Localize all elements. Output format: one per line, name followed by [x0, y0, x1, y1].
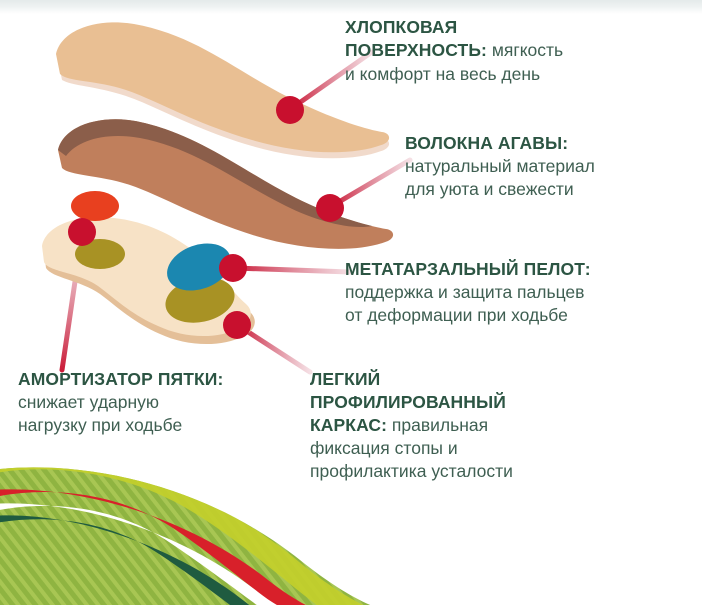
- leader-line-metatarsal: [235, 268, 350, 272]
- callout-agave-title: ВОЛОКНА АГАВЫ:: [405, 132, 695, 155]
- marker-dot-metatarsal[interactable]: [219, 254, 247, 282]
- callout-agave-fibers: ВОЛОКНА АГАВЫ: натуральный материал для …: [405, 132, 695, 200]
- callout-heel-title: АМОРТИЗАТОР ПЯТКИ:: [18, 368, 308, 391]
- callout-metatarsal-body-line-2: от деформации при ходьбе: [345, 304, 697, 327]
- callout-metatarsal-pad: МЕТАТАРЗАЛЬНЫЙ ПЕЛОТ: поддержка и защита…: [345, 258, 697, 326]
- callout-frame-body-line-1: фиксация стопы и: [310, 437, 610, 460]
- callout-heel-shock-absorber: АМОРТИЗАТОР ПЯТКИ: снижает ударную нагру…: [18, 368, 308, 436]
- callout-frame-title-line-1: ЛЕГКИЙ: [310, 368, 610, 391]
- callout-cotton-surface: ХЛОПКОВАЯ ПОВЕРХНОСТЬ: мягкость и комфор…: [345, 16, 695, 85]
- callout-frame-title-line-3: КАРКАС:: [310, 415, 387, 435]
- callout-cotton-title-line-2: ПОВЕРХНОСТЬ:: [345, 40, 487, 60]
- callout-cotton-title-line-1: ХЛОПКОВАЯ: [345, 16, 695, 39]
- marker-dot-cotton[interactable]: [276, 96, 304, 124]
- heel-shock-pad: [71, 191, 119, 221]
- callout-frame-body-line-2: профилактика усталости: [310, 460, 610, 483]
- callout-light-profiled-frame: ЛЕГКИЙ ПРОФИЛИРОВАННЫЙ КАРКАС: правильна…: [310, 368, 610, 483]
- leader-line-frame: [239, 326, 310, 372]
- marker-dot-heel[interactable]: [68, 218, 96, 246]
- marker-dot-frame[interactable]: [223, 311, 251, 339]
- marker-dot-agave[interactable]: [316, 194, 344, 222]
- callout-frame-tail-word: правильная: [392, 415, 488, 435]
- callout-heel-body-line-2: нагрузку при ходьбе: [18, 414, 308, 437]
- callout-metatarsal-body-line-1: поддержка и защита пальцев: [345, 281, 697, 304]
- callout-agave-body-line-1: натуральный материал: [405, 155, 695, 178]
- callout-heel-body-line-1: снижает ударную: [18, 391, 308, 414]
- leader-line-agave: [332, 160, 410, 206]
- infographic-canvas: ХЛОПКОВАЯ ПОВЕРХНОСТЬ: мягкость и комфор…: [0, 0, 702, 605]
- callout-cotton-body-line-1: и комфорт на весь день: [345, 63, 695, 86]
- callout-frame-title-line-2: ПРОФИЛИРОВАННЫЙ: [310, 391, 610, 414]
- callout-agave-body-line-2: для уюта и свежести: [405, 178, 695, 201]
- callout-metatarsal-title: МЕТАТАРЗАЛЬНЫЙ ПЕЛОТ:: [345, 258, 697, 281]
- callout-cotton-tail-word: мягкость: [492, 40, 563, 60]
